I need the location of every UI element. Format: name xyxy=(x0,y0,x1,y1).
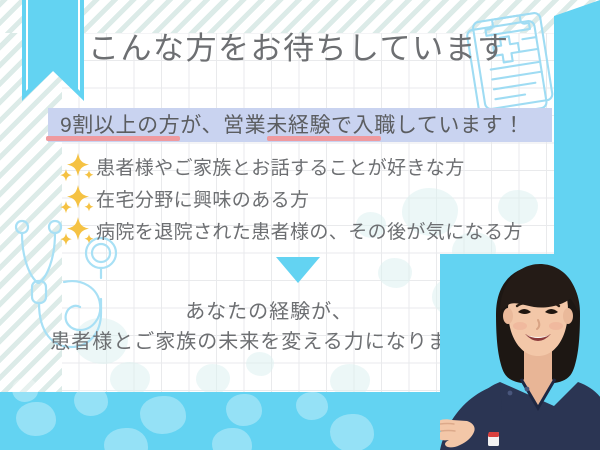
decor-blob xyxy=(226,394,262,426)
decor-blob xyxy=(12,378,38,402)
list-item-label: 病院を退院された患者様の、その後が気になる方 xyxy=(96,223,523,242)
ear-left xyxy=(503,308,513,324)
cheek-left xyxy=(513,322,527,330)
ear-right xyxy=(563,308,573,324)
cheek-right xyxy=(549,322,563,330)
list-item: 病院を退院された患者様の、その後が気になる方 xyxy=(60,216,530,248)
shoulder-button xyxy=(525,387,530,392)
highlight-banner-text: 9割以上の方が、営業未経験で入職しています！ xyxy=(60,115,525,136)
underline-mark-1 xyxy=(46,136,180,141)
decor-blob xyxy=(378,258,412,288)
list-item: 在宅分野に興味のある方 xyxy=(60,184,530,216)
list-item: 患者様やご家族とお話することが好きな方 xyxy=(60,152,530,184)
decor-blob xyxy=(16,402,56,436)
decor-blob xyxy=(104,428,148,450)
decor-blob xyxy=(140,396,186,434)
name-badge-stripe xyxy=(488,432,499,437)
list-item-label: 患者様やご家族とお話することが好きな方 xyxy=(96,159,465,178)
decor-blob xyxy=(330,414,374,450)
shoulder-button xyxy=(508,391,513,396)
list-item-label: 在宅分野に興味のある方 xyxy=(96,191,309,210)
down-triangle-icon xyxy=(276,257,320,283)
decor-blob xyxy=(196,364,230,394)
sparkle-icon xyxy=(60,152,96,184)
decor-blob xyxy=(296,392,328,420)
decor-blob xyxy=(74,386,108,416)
page-title: こんな方をお待ちしています xyxy=(88,33,510,64)
bullet-list: 患者様やご家族とお話することが好きな方 在宅分野に興味のある方 xyxy=(60,152,530,248)
nurse-photo xyxy=(440,254,600,450)
sparkle-icon xyxy=(60,216,96,248)
poster-canvas: こんな方をお待ちしています 9割以上の方が、営業未経験で入職しています！ xyxy=(0,0,600,450)
underline-mark-2 xyxy=(267,136,381,141)
decor-blob xyxy=(212,428,252,450)
sparkle-icon xyxy=(60,184,96,216)
